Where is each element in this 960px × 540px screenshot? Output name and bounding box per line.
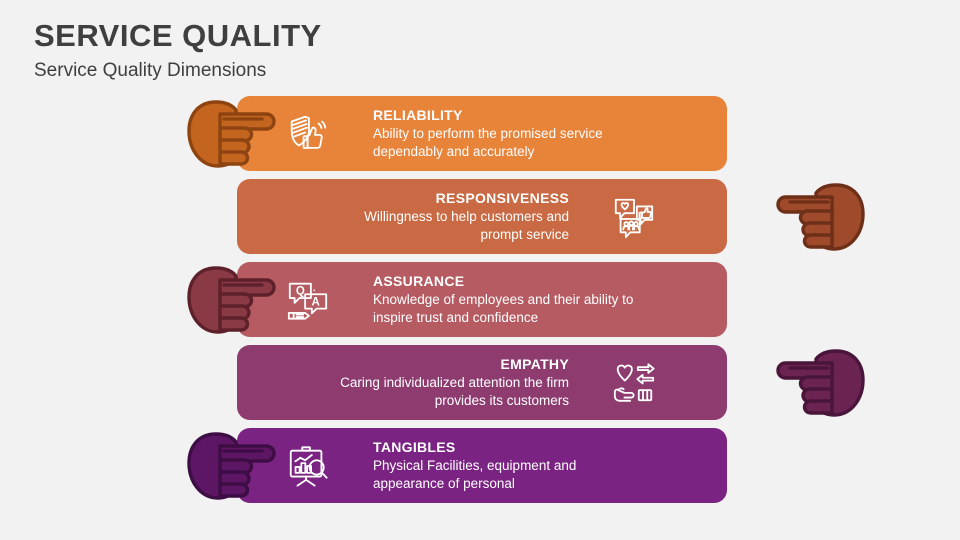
chat-bubbles-feedback-icon — [611, 194, 657, 240]
chart-board-search-icon — [285, 443, 331, 489]
page-subtitle: Service Quality Dimensions — [34, 56, 734, 84]
page-title: SERVICE QUALITY — [34, 16, 734, 56]
dimension-title: TANGIBLES — [373, 438, 576, 457]
dimension-description-line: Caring individualized attention the firm — [340, 374, 569, 392]
shield-thumbs-up-icon — [285, 111, 331, 157]
dimension-bar[interactable]: RELIABILITYAbility to perform the promis… — [237, 96, 727, 171]
dimension-row: TANGIBLESPhysical Facilities, equipment … — [0, 428, 960, 507]
dimension-description: Knowledge of employees and their ability… — [373, 291, 633, 327]
dimension-text: ASSURANCEKnowledge of employees and thei… — [373, 272, 633, 327]
dimension-description-line: prompt service — [364, 226, 569, 244]
dimension-description-line: Ability to perform the promised service — [373, 125, 603, 143]
heart-exchange-hand-icon — [611, 360, 657, 406]
qa-speech-pencil-icon: Q A — [285, 277, 331, 323]
dimension-description: Willingness to help customers andprompt … — [364, 208, 569, 244]
svg-text:Q: Q — [296, 285, 305, 297]
dimension-text: TANGIBLESPhysical Facilities, equipment … — [373, 438, 576, 493]
dimension-text: EMPATHYCaring individualized attention t… — [340, 355, 569, 410]
dimension-row: RESPONSIVENESSWillingness to help custom… — [0, 179, 960, 258]
dimension-row: RELIABILITYAbility to perform the promis… — [0, 96, 960, 175]
dimension-row: EMPATHYCaring individualized attention t… — [0, 345, 960, 424]
dimension-description: Ability to perform the promised serviced… — [373, 125, 603, 161]
dimensions-list: RELIABILITYAbility to perform the promis… — [0, 96, 960, 516]
dimension-description-line: dependably and accurately — [373, 143, 603, 161]
dimension-title: ASSURANCE — [373, 272, 633, 291]
header: SERVICE QUALITY Service Quality Dimensio… — [34, 16, 734, 84]
dimension-description-line: inspire trust and confidence — [373, 309, 633, 327]
dimension-description-line: appearance of personal — [373, 475, 576, 493]
dimension-bar[interactable]: TANGIBLESPhysical Facilities, equipment … — [237, 428, 727, 503]
dimension-description-line: Willingness to help customers and — [364, 208, 569, 226]
dimension-bar[interactable]: Q A ASSURANCEKnowledge of employees and … — [237, 262, 727, 337]
dimension-row: Q A ASSURANCEKnowledge of employees and … — [0, 262, 960, 341]
dimension-description: Caring individualized attention the firm… — [340, 374, 569, 410]
svg-text:A: A — [312, 296, 320, 308]
dimension-text: RESPONSIVENESSWillingness to help custom… — [364, 189, 569, 244]
dimension-text: RELIABILITYAbility to perform the promis… — [373, 106, 603, 161]
dimension-description: Physical Facilities, equipment andappear… — [373, 457, 576, 493]
dimension-description-line: Physical Facilities, equipment and — [373, 457, 576, 475]
dimension-title: RELIABILITY — [373, 106, 603, 125]
dimension-bar[interactable]: EMPATHYCaring individualized attention t… — [237, 345, 727, 420]
dimension-description-line: provides its customers — [340, 392, 569, 410]
dimension-bar[interactable]: RESPONSIVENESSWillingness to help custom… — [237, 179, 727, 254]
dimension-title: RESPONSIVENESS — [364, 189, 569, 208]
dimension-title: EMPATHY — [340, 355, 569, 374]
dimension-description-line: Knowledge of employees and their ability… — [373, 291, 633, 309]
